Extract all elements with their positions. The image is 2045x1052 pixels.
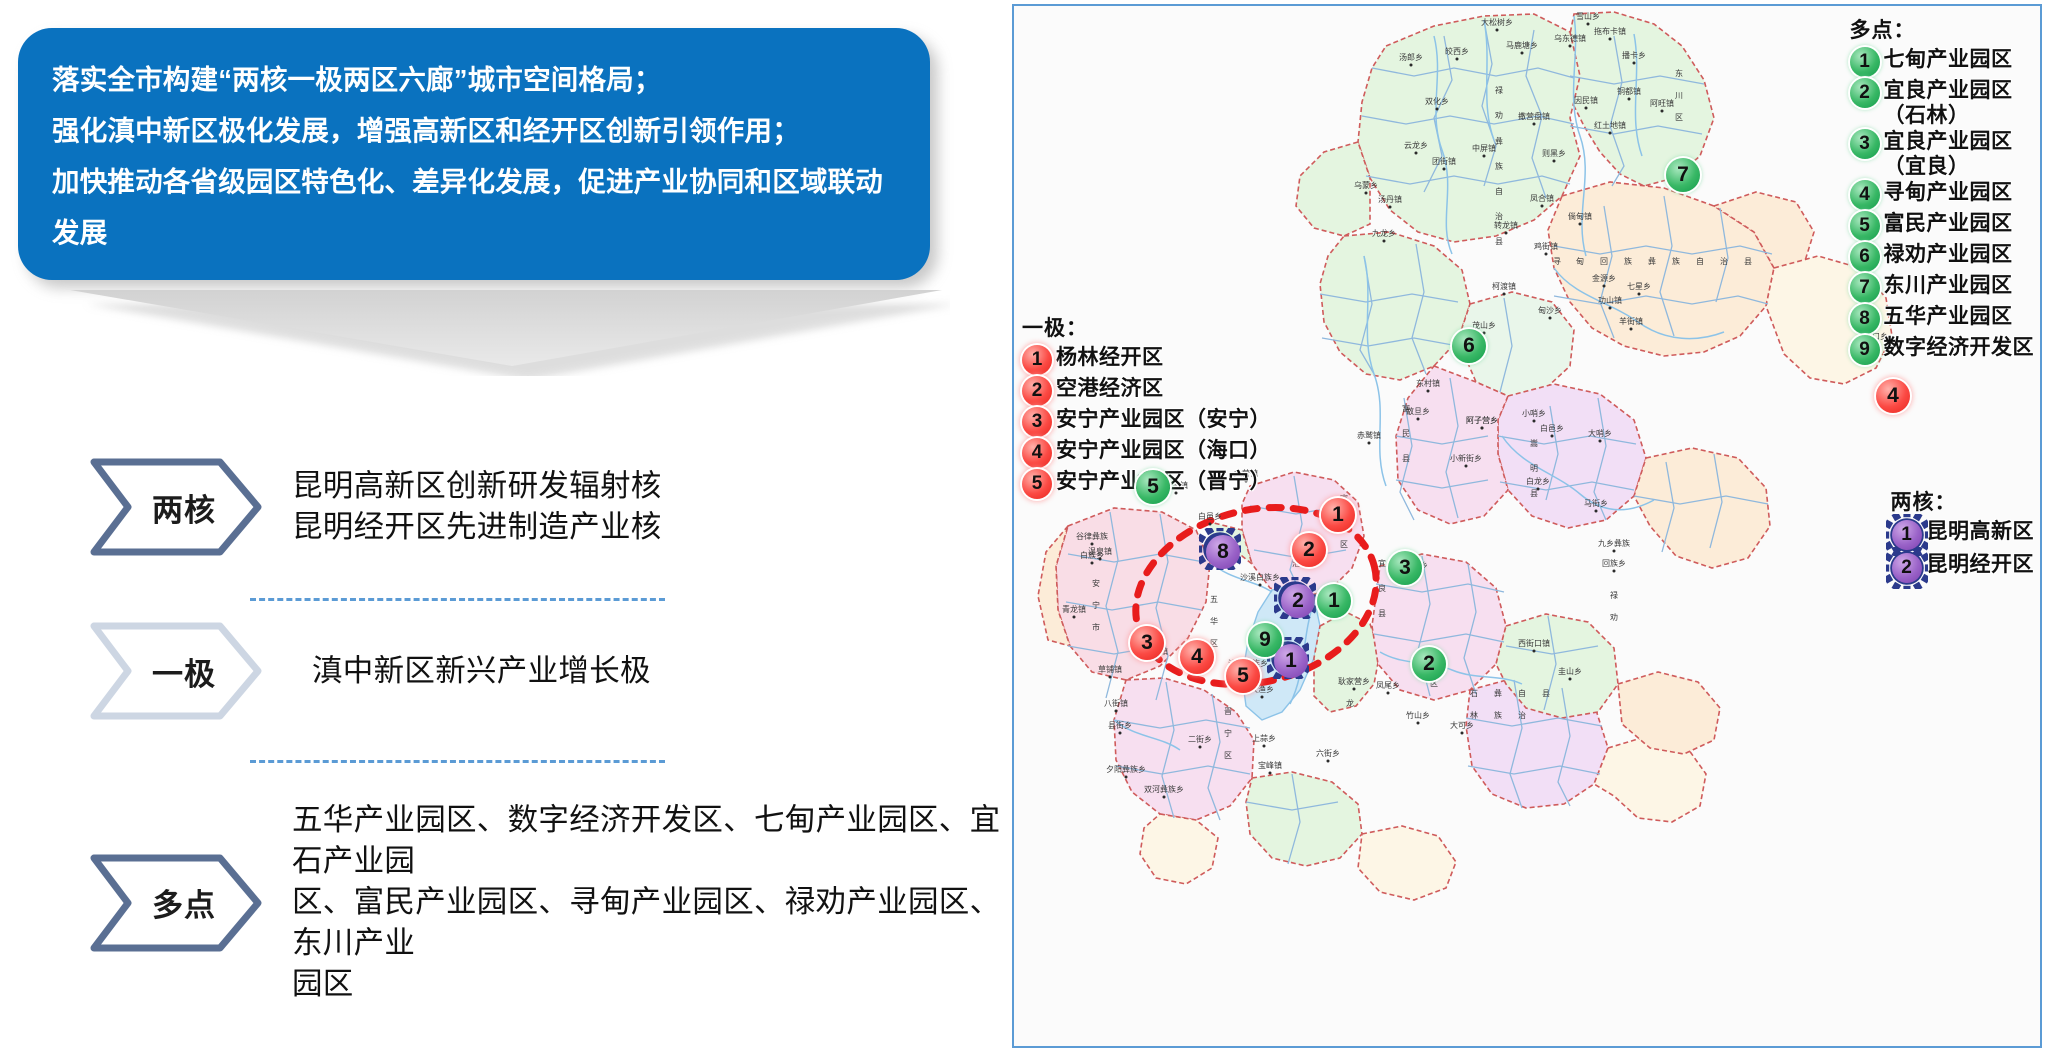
map-place-dot — [1595, 510, 1598, 513]
badge-number: 5 — [1022, 469, 1052, 499]
map-place-dot — [1383, 240, 1386, 243]
map-place-label: 县 — [1744, 257, 1752, 266]
map-place-label: 小新街乡 — [1450, 453, 1482, 463]
map-place-dot — [1533, 123, 1536, 126]
map-place-dot — [1436, 108, 1439, 111]
map-place-label: 雪山乡 — [1576, 11, 1600, 21]
legend-item-duodian-1[interactable]: 1七甸产业园区 — [1850, 47, 2035, 77]
legend-item-label: 宜良产业园区 （宜良） — [1884, 129, 2013, 179]
map-place-label: 县 — [1542, 689, 1550, 698]
chevron-duodian: 多点 — [88, 852, 264, 954]
map-place-label: 区 — [1675, 113, 1683, 122]
legend-item-duodian-2[interactable]: 2宜良产业园区 （石林） — [1850, 78, 2035, 128]
map-place-label: 二街乡 — [1188, 734, 1212, 744]
map-place-label: 双河彝族乡 — [1144, 784, 1184, 794]
map-place-label: 汤郎乡 — [1399, 52, 1423, 62]
map-place-label: 治 — [1720, 256, 1728, 266]
badge-number: 5 — [1136, 470, 1170, 504]
map-place-label: 倘甸镇 — [1568, 211, 1592, 221]
map-place-label: 播卡乡 — [1622, 50, 1646, 60]
badge-number: 2 — [1292, 533, 1326, 567]
row-lianghe: 两核 昆明高新区创新研发辐射核 昆明经开区先进制造产业核 — [88, 456, 662, 558]
map-place-label: 九乡彝族 — [1598, 538, 1630, 548]
badge-number: 1 — [1892, 520, 1922, 550]
badge-number: 1 — [1022, 345, 1052, 375]
map-place-label: 皎西乡 — [1445, 46, 1469, 56]
map-place-label: 民 — [1402, 429, 1410, 438]
legend-item-yiji-2[interactable]: 2空港经济区 — [1022, 376, 1271, 406]
map-place-label: 八街镇 — [1104, 698, 1128, 708]
map-place-dot — [1541, 205, 1544, 208]
map-place-label: 彝 — [1648, 256, 1656, 266]
callout-line-4: 发展 — [52, 207, 896, 258]
map-place-dot — [1505, 232, 1508, 235]
map-place-label: 族 — [1672, 256, 1680, 266]
map-marker-red-2[interactable]: 2 — [1292, 533, 1326, 567]
map-place-dot — [1603, 285, 1606, 288]
legend-item-label: 安宁产业园区（安宁） — [1056, 407, 1271, 432]
map-place-label: 中屏镇 — [1472, 143, 1496, 153]
map-place-label: 团街镇 — [1432, 156, 1456, 166]
badge-number: 2 — [1281, 584, 1315, 618]
map-place-label: 柯渡镇 — [1492, 281, 1516, 291]
map-place-dot — [1633, 62, 1636, 65]
map-marker-red-3[interactable]: 3 — [1130, 626, 1164, 660]
map-place-label: 凤尾乡 — [1376, 681, 1400, 690]
map-place-label: 县街乡 — [1108, 720, 1132, 730]
map-place-label: 彝 — [1495, 136, 1503, 146]
map-place-dot — [1533, 650, 1536, 653]
map-place-dot — [1368, 442, 1371, 445]
map-place-label: 温泉镇 — [1088, 546, 1112, 556]
map-place-dot — [1259, 584, 1262, 587]
legend-item-label: 昆明经开区 — [1927, 552, 2035, 577]
legend-duodian: 多点： 1七甸产业园区2宜良产业园区 （石林）3宜良产业园区 （宜良）4寻甸产业… — [1850, 14, 2035, 366]
map-marker-gear-2[interactable]: 2 — [1279, 582, 1313, 616]
map-place-label: 县 — [1378, 609, 1386, 618]
map-place-label: 转龙镇 — [1494, 220, 1518, 230]
map-place-label: 晋 — [1224, 707, 1232, 716]
map-place-dot — [1537, 488, 1540, 491]
map-place-label: 金源乡 — [1592, 273, 1616, 283]
legend-item-label: 五华产业园区 — [1884, 304, 2013, 329]
divider-1 — [250, 598, 665, 601]
map-place-dot — [1533, 420, 1536, 423]
map-place-dot — [1073, 616, 1076, 619]
legend-item-label: 杨林经开区 — [1056, 345, 1164, 370]
map-place-label: 大可乡 — [1450, 720, 1474, 730]
map-marker-red-4[interactable]: 4 — [1876, 379, 1910, 413]
map-place-label: 白邑乡 — [1540, 423, 1564, 433]
legend-item-label: 宜良产业园区 （石林） — [1884, 78, 2013, 128]
map-place-label: 汤丹镇 — [1378, 194, 1402, 204]
map-marker-red-5[interactable]: 5 — [1226, 659, 1260, 693]
legend-item-label: 安宁产业园区（海口） — [1056, 438, 1271, 463]
map-place-label: 宝峰镇 — [1258, 760, 1282, 770]
map-place-label: 竹山乡 — [1406, 710, 1430, 720]
map-place-label: 回族乡 — [1602, 558, 1626, 568]
map-place-dot — [1417, 722, 1420, 725]
map-place-dot — [1387, 692, 1390, 695]
badge-number: 3 — [1130, 626, 1164, 660]
map-place-label: 红土地镇 — [1594, 120, 1626, 130]
legend-item-lianghe-2[interactable]: 2昆明经开区 — [1891, 552, 2035, 584]
map-place-label: 嵩 — [1530, 439, 1538, 448]
map-place-label: 功山镇 — [1598, 295, 1622, 305]
badge-number: 2 — [1892, 553, 1922, 583]
map-place-label: 白龙乡 — [1526, 476, 1550, 486]
map-place-dot — [1661, 110, 1664, 113]
map-place-dot — [1353, 688, 1356, 691]
badge-number: 6 — [1452, 329, 1486, 363]
map-place-label: 东 — [1675, 68, 1683, 78]
chevron-lianghe-label: 两核 — [88, 456, 264, 558]
map-place-label: 族 — [1494, 710, 1502, 720]
map-place-label: 华 — [1210, 616, 1218, 626]
map-place-label: 羊街镇 — [1619, 316, 1643, 326]
map-place-label: 劝 — [1610, 612, 1618, 622]
badge-number: 5 — [1850, 211, 1880, 241]
map-place-label: 大松树乡 — [1481, 17, 1513, 27]
map-place-label: 明 — [1530, 464, 1538, 473]
map-place-dot — [1417, 418, 1420, 421]
map-place-dot — [1099, 558, 1102, 561]
map-place-dot — [1443, 168, 1446, 171]
map-place-label: 青龙镇 — [1062, 604, 1086, 614]
map-place-label: 自 — [1696, 256, 1704, 266]
map-place-label: 马鹿塘乡 — [1506, 40, 1538, 50]
map-place-dot — [1091, 543, 1094, 546]
map-place-label: 圭山乡 — [1558, 666, 1582, 676]
legend-item-duodian-4[interactable]: 4寻甸产业园区 — [1850, 180, 2035, 210]
map-marker-green-3[interactable]: 3 — [1388, 551, 1422, 585]
map-place-dot — [1263, 745, 1266, 748]
badge-number: 1 — [1317, 584, 1351, 618]
map-place-label: 良 — [1378, 583, 1386, 593]
map-place-label: 阿旺镇 — [1650, 98, 1674, 108]
legend-item-label: 昆明高新区 — [1927, 519, 2035, 544]
map-place-label: 龙 — [1346, 698, 1354, 708]
map-place-dot — [1269, 772, 1272, 775]
chevron-yiji: 一极 — [88, 620, 264, 722]
map-place-label: 散旦乡 — [1406, 406, 1430, 416]
map-place-dot — [1456, 58, 1459, 61]
map-place-label: 因民镇 — [1574, 95, 1598, 105]
map-place-dot — [1553, 160, 1556, 163]
map-place-dot — [1496, 29, 1499, 32]
map-place-label: 则黑乡 — [1542, 148, 1566, 158]
map-place-dot — [1481, 427, 1484, 430]
map-place-dot — [1465, 465, 1468, 468]
map-place-label: 自 — [1495, 186, 1503, 196]
map-marker-green-6[interactable]: 6 — [1452, 329, 1486, 363]
legend-item-label: 富民产业园区 — [1884, 211, 2013, 236]
map-place-dot — [1091, 562, 1094, 565]
chevron-lianghe: 两核 — [88, 456, 264, 558]
legend-item-duodian-8[interactable]: 8五华产业园区 — [1850, 304, 2035, 334]
row-yiji-text: 滇中新区新兴产业增长极 — [312, 651, 651, 692]
map-place-dot — [1483, 155, 1486, 158]
map-place-label: 五 — [1210, 595, 1218, 604]
map-place-label: 七星乡 — [1627, 282, 1651, 291]
map-place-dot — [1628, 98, 1631, 101]
map-place-label: 东村镇 — [1416, 378, 1440, 388]
map-place-label: 撒营盘镇 — [1518, 111, 1550, 121]
legend-duodian-title: 多点： — [1850, 14, 2035, 44]
badge-number: 9 — [1850, 335, 1880, 365]
badge-number: 3 — [1022, 407, 1052, 437]
map-place-label: 彝 — [1494, 688, 1502, 698]
map-place-dot — [1569, 45, 1572, 48]
legend-item-label: 数字经济开发区 — [1884, 335, 2035, 360]
kunming-industrial-park-map: .reg { stroke:#cf5b5b; stroke-width:1.6;… — [1012, 4, 2042, 1048]
map-place-dot — [1579, 223, 1582, 226]
map-place-dot — [1599, 440, 1602, 443]
map-place-label: 禄 — [1610, 591, 1618, 600]
chevron-yiji-label: 一极 — [88, 620, 264, 722]
map-place-label: 林 — [1470, 710, 1478, 720]
map-marker-gear-8[interactable]: 8 — [1204, 533, 1238, 567]
map-place-dot — [1209, 523, 1212, 526]
map-place-dot — [1461, 732, 1464, 735]
map-place-label: 铜都镇 — [1617, 86, 1641, 96]
legend-item-yiji-4[interactable]: 4安宁产业园区（海口） — [1022, 438, 1271, 468]
map-place-dot — [1613, 570, 1616, 573]
map-place-label: 六街乡 — [1316, 748, 1340, 758]
map-marker-green-5[interactable]: 5 — [1136, 470, 1170, 504]
map-marker-green-2[interactable]: 2 — [1412, 647, 1446, 681]
map-place-dot — [1261, 696, 1264, 699]
legend-item-yiji-3[interactable]: 3安宁产业园区（安宁） — [1022, 407, 1271, 437]
map-place-dot — [1415, 152, 1418, 155]
badge-number: 3 — [1388, 551, 1422, 585]
map-place-label: 市 — [1092, 622, 1100, 632]
badge-number: 2 — [1850, 78, 1880, 108]
badge-number: 4 — [1180, 640, 1214, 674]
row-lianghe-text: 昆明高新区创新研发辐射核 昆明经开区先进制造产业核 — [292, 466, 662, 548]
legend-lianghe-title: 两核： — [1891, 486, 2035, 516]
badge-number: 4 — [1876, 379, 1910, 413]
map-place-label: 宜 — [1378, 558, 1386, 568]
map-place-label: 赤鹫镇 — [1357, 430, 1381, 440]
map-place-label: 草铺镇 — [1098, 664, 1122, 674]
map-place-label: 石 — [1470, 689, 1478, 698]
map-place-label: 安 — [1092, 578, 1100, 588]
legend-item-label: 禄劝产业园区 — [1884, 242, 2013, 267]
map-marker-green-1[interactable]: 1 — [1317, 584, 1351, 618]
chevron-duodian-label: 多点 — [88, 852, 264, 954]
map-place-label: 自 — [1518, 688, 1526, 698]
down-arrow-shape — [70, 290, 950, 376]
map-place-dot — [1569, 678, 1572, 681]
badge-number: 1 — [1321, 498, 1355, 532]
badge-number: 4 — [1022, 438, 1052, 468]
map-marker-green-7[interactable]: 7 — [1666, 158, 1700, 192]
map-place-dot — [1119, 732, 1122, 735]
map-place-label: 耿家营乡 — [1338, 676, 1370, 686]
row-yiji: 一极 滇中新区新兴产业增长极 — [88, 620, 651, 722]
badge-number: 6 — [1850, 242, 1880, 272]
legend-item-label: 七甸产业园区 — [1884, 47, 2013, 72]
map-place-dot — [1199, 746, 1202, 749]
map-place-label: 马街乡 — [1584, 498, 1608, 508]
legend-item-yiji-1[interactable]: 1杨林经开区 — [1022, 345, 1271, 375]
map-place-label: 禄 — [1495, 86, 1503, 95]
map-place-label: 白邑乡 — [1198, 511, 1222, 521]
map-place-dot — [1545, 253, 1548, 256]
map-place-label: 县 — [1495, 237, 1503, 246]
badge-number: 1 — [1850, 47, 1880, 77]
map-place-dot — [1109, 676, 1112, 679]
legend-item-duodian-7[interactable]: 7东川产业园区 — [1850, 273, 2035, 303]
badge-number: 2 — [1412, 647, 1446, 681]
legend-item-lianghe-1[interactable]: 1昆明高新区 — [1891, 519, 2035, 551]
map-place-dot — [1585, 107, 1588, 110]
map-place-dot — [1613, 550, 1616, 553]
map-place-dot — [1609, 132, 1612, 135]
map-place-label: 拖布卡镇 — [1594, 26, 1626, 36]
map-place-label: 九龙乡 — [1372, 228, 1396, 238]
badge-number: 8 — [1850, 304, 1880, 334]
legend-yiji-title: 一极： — [1022, 312, 1271, 342]
map-place-dot — [1549, 317, 1552, 320]
map-place-dot — [1638, 293, 1641, 296]
map-place-dot — [1630, 328, 1633, 331]
badge-number: 5 — [1226, 659, 1260, 693]
map-place-label: 区 — [1340, 540, 1348, 549]
map-place-label: 云龙乡 — [1404, 140, 1428, 150]
map-place-dot — [1521, 52, 1524, 55]
map-place-dot — [1163, 796, 1166, 799]
map-place-label: 大哨乡 — [1588, 428, 1612, 438]
map-place-dot — [1365, 192, 1368, 195]
map-place-label: 族 — [1495, 161, 1503, 171]
map-place-label: 族 — [1624, 256, 1632, 266]
map-place-label: 小哨乡 — [1522, 408, 1546, 418]
callout-banner: 落实全市构建“两核一极两区六廊”城市空间格局； 强化滇中新区极化发展，增强高新区… — [18, 28, 930, 280]
legend-item-label: 东川产业园区 — [1884, 273, 2013, 298]
map-place-label: 阿子营乡 — [1466, 415, 1498, 425]
divider-2 — [250, 760, 665, 763]
badge-number: 4 — [1850, 180, 1880, 210]
map-place-label: 宁 — [1092, 600, 1100, 610]
map-place-label: 县 — [1530, 489, 1538, 498]
badge-number: 3 — [1850, 129, 1880, 159]
map-place-label: 甸沙乡 — [1538, 305, 1562, 315]
callout-line-1: 落实全市构建“两核一极两区六廊”城市空间格局； — [52, 54, 896, 105]
row-duodian-text: 五华产业园区、数字经济开发区、七甸产业园区、宜石产业园 区、富民产业园区、寻甸产… — [292, 800, 1010, 1005]
map-place-dot — [1587, 23, 1590, 26]
map-marker-red-1[interactable]: 1 — [1321, 498, 1355, 532]
map-place-label: 夕阳彝族乡 — [1106, 764, 1146, 774]
map-place-label: 双化乡 — [1425, 96, 1449, 106]
map-place-label: 鸡街镇 — [1534, 241, 1558, 251]
callout-line-3: 加快推动各省级园区特色化、差异化发展，促进产业协同和区域联动 — [52, 156, 896, 207]
map-place-label: 谷律彝族 — [1076, 531, 1108, 541]
map-place-dot — [1609, 307, 1612, 310]
map-place-dot — [1389, 206, 1392, 209]
map-place-label: 凤合镇 — [1530, 193, 1554, 203]
map-place-dot — [1427, 390, 1430, 393]
legend-item-duodian-5[interactable]: 5富民产业园区 — [1850, 211, 2035, 241]
legend-item-duodian-6[interactable]: 6禄劝产业园区 — [1850, 242, 2035, 272]
map-place-dot — [1115, 710, 1118, 713]
map-place-label: 宁 — [1224, 728, 1232, 738]
legend-lianghe: 两核： 1昆明高新区2昆明经开区 — [1891, 486, 2035, 585]
map-place-label: 乌东德镇 — [1554, 33, 1586, 43]
map-place-dot — [1503, 293, 1506, 296]
map-place-label: 治 — [1518, 710, 1526, 720]
gear-badge: 2 — [1891, 552, 1923, 584]
map-marker-red-4[interactable]: 4 — [1180, 640, 1214, 674]
badge-number: 7 — [1850, 273, 1880, 303]
map-place-label: 区 — [1224, 751, 1232, 760]
map-place-dot — [1609, 38, 1612, 41]
map-place-dot — [1327, 760, 1330, 763]
badge-number: 2 — [1022, 376, 1052, 406]
map-place-dot — [1125, 776, 1128, 779]
left-content-panel: 落实全市构建“两核一极两区六廊”城市空间格局； 强化滇中新区极化发展，增强高新区… — [0, 0, 1010, 1052]
badge-number: 7 — [1666, 158, 1700, 192]
legend-item-label: 空港经济区 — [1056, 376, 1164, 401]
legend-item-duodian-9[interactable]: 9数字经济开发区 — [1850, 335, 2035, 365]
map-place-label: 乌蒙乡 — [1354, 180, 1378, 190]
map-place-label: 劝 — [1495, 110, 1503, 120]
legend-item-label: 寻甸产业园区 — [1884, 180, 2013, 205]
legend-item-duodian-3[interactable]: 3宜良产业园区 （宜良） — [1850, 129, 2035, 179]
badge-number: 1 — [1274, 644, 1308, 678]
callout-line-2: 强化滇中新区极化发展，增强高新区和经开区创新引领作用； — [52, 105, 896, 156]
badge-number: 8 — [1206, 535, 1240, 569]
map-place-label: 上蒜乡 — [1252, 733, 1276, 743]
row-duodian: 多点 五华产业园区、数字经济开发区、七甸产业园区、宜石产业园 区、富民产业园区、… — [88, 800, 1010, 1005]
map-place-label: 寻 — [1553, 257, 1561, 266]
map-place-label: 治 — [1495, 211, 1503, 221]
map-place-label: 回 — [1600, 257, 1608, 266]
map-place-label: 川 — [1675, 91, 1683, 100]
map-place-label: 县 — [1402, 454, 1410, 463]
map-place-dot — [1410, 64, 1413, 67]
map-place-dot — [1551, 435, 1554, 438]
map-place-label: 西街口镇 — [1518, 638, 1550, 648]
map-place-label: 甸 — [1576, 256, 1584, 266]
